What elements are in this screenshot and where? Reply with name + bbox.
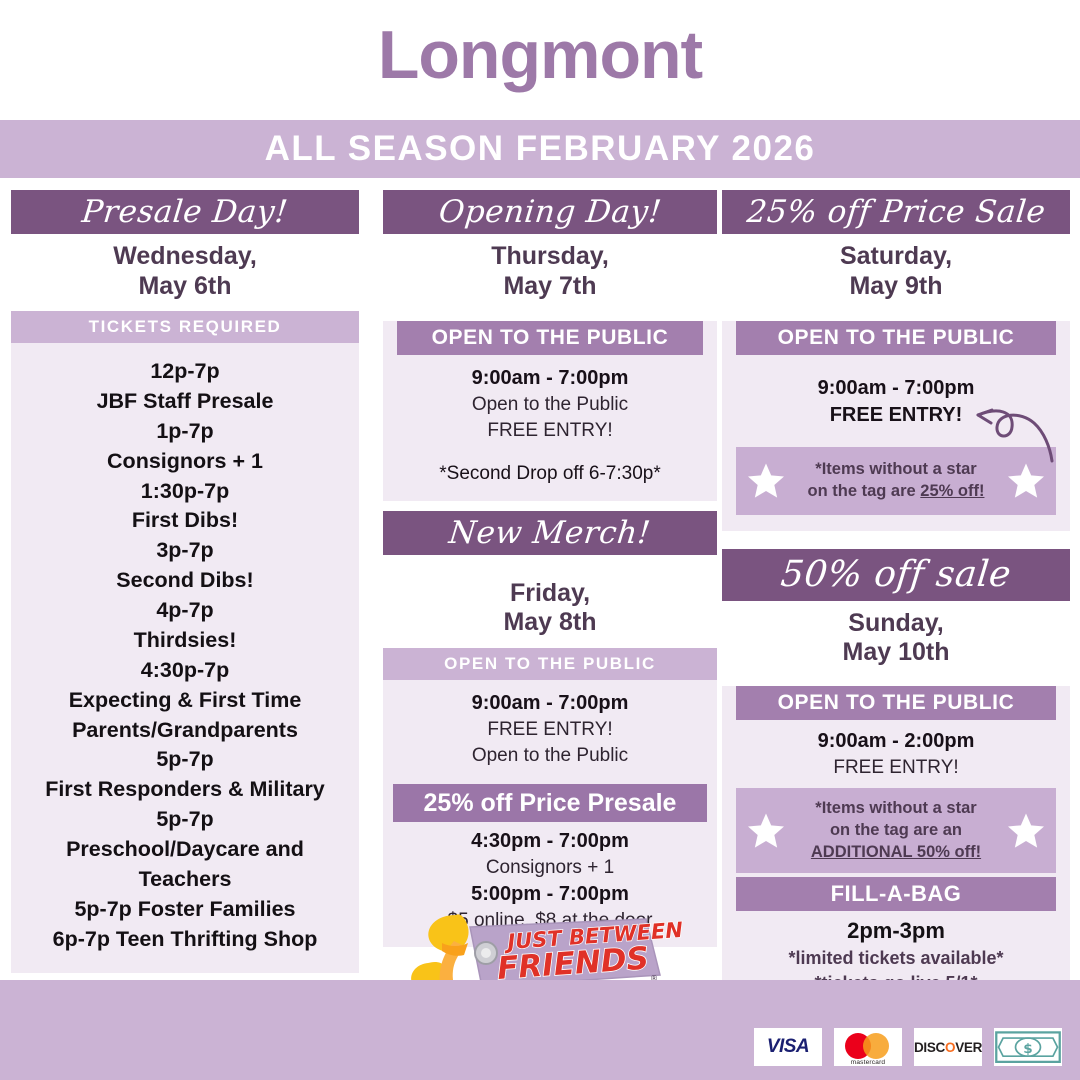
opening-day-date: Thursday, May 7th [383,234,717,311]
saturday-hours: 9:00am - 7:00pm [730,375,1062,402]
saturday-star-note-line2-pre: on the tag are [808,482,921,500]
list-item: First Dibs! [17,506,353,536]
friday-presale-time-1: 4:30pm - 7:00pm [391,828,709,855]
saturday-star-note-line1: *Items without a star [815,460,976,478]
tickets-required-bar: TICKETS REQUIRED [11,311,359,343]
open-to-public-bar-thursday: OPEN TO THE PUBLIC [397,321,703,355]
thursday-free-entry: FREE ENTRY! [391,418,709,444]
friday-presale-time-2: 5:00pm - 7:00pm [391,881,709,908]
list-item: Consignors + 1 [17,447,353,477]
presale-day-banner-label: Presale Day! [80,194,290,230]
fill-a-bag-bar: FILL-A-BAG [736,877,1056,911]
friday-public-line: Open to the Public [391,743,709,769]
list-item: 12p-7p [17,357,353,387]
list-item: 4:30p-7p [17,656,353,686]
open-to-public-label: OPEN TO THE PUBLIC [778,326,1015,350]
friday-free-entry: FREE ENTRY! [391,717,709,743]
opening-day-banner: Opening Day! [383,190,717,234]
friday-weekday: Friday, [383,579,717,609]
list-item: 1:30p-7p [17,477,353,507]
saturday-free-entry: FREE ENTRY! [730,402,1062,429]
friday-panel: OPEN TO THE PUBLIC 9:00am - 7:00pm FREE … [383,648,717,948]
season-banner-label: ALL SEASON FEBRUARY 2026 [265,129,816,169]
page-title: Longmont [0,0,1080,94]
saturday-date: Saturday, May 9th [722,234,1070,311]
discover-label: DISCOVER [914,1040,982,1055]
opening-day-date-num: May 7th [383,272,717,302]
friday-presale-who-1: Consignors + 1 [391,855,709,881]
open-to-public-bar-friday: OPEN TO THE PUBLIC [383,648,717,680]
presale-ticket-list: 12p-7p JBF Staff Presale 1p-7p Consignor… [11,343,359,963]
star-icon [746,811,786,851]
sunday-star-note-text: *Items without a star on the tag are an … [811,798,981,863]
new-merch-banner: New Merch! [383,511,717,555]
sunday-star-note: *Items without a star on the tag are an … [736,788,1056,873]
list-item: 5p-7p [17,805,353,835]
thursday-public-line: Open to the Public [391,392,709,418]
star-icon [1006,811,1046,851]
visa-icon: VISA [754,1028,822,1066]
fifty-off-banner: 50% off sale [722,549,1070,601]
list-item: 5p-7p [17,745,353,775]
season-banner: ALL SEASON FEBRUARY 2026 [0,120,1080,178]
cash-graphic: $ [994,1029,1062,1065]
saturday-star-note-text: *Items without a star on the tag are 25%… [808,459,985,503]
friday-times: 9:00am - 7:00pm FREE ENTRY! Open to the … [383,680,717,772]
sunday-free-entry: FREE ENTRY! [730,755,1062,781]
saturday-star-note-emphasis: 25% off! [920,482,984,500]
mastercard-orange-circle [863,1033,889,1059]
opening-day-weekday: Thursday, [383,242,717,272]
thursday-dropoff-note: *Second Drop off 6-7:30p* [391,443,709,487]
price-presale-bar: 25% off Price Presale [393,784,707,822]
thursday-times: 9:00am - 7:00pm Open to the Public FREE … [383,355,717,491]
friday-date-num: May 8th [383,608,717,638]
visa-label: VISA [767,1036,809,1058]
list-item: Teachers [17,865,353,895]
open-to-public-label: OPEN TO THE PUBLIC [444,654,656,674]
cash-icon: $ [994,1028,1062,1066]
sunday-date: Sunday, May 10th [722,601,1070,678]
price-sale-banner: 25% off Price Sale [722,190,1070,234]
presale-day-panel: TICKETS REQUIRED 12p-7p JBF Staff Presal… [11,311,359,973]
sunday-panel: OPEN TO THE PUBLIC 9:00am - 2:00pm FREE … [722,686,1070,1014]
price-sale-banner-label: 25% off Price Sale [745,194,1047,230]
fill-a-bag-label: FILL-A-BAG [831,881,962,907]
presale-day-date-num: May 6th [11,272,359,302]
sunday-date-num: May 10th [722,638,1070,668]
sunday-star-note-line1: *Items without a star [815,799,976,817]
fill-a-bag-note-1: *limited tickets available* [728,946,1064,971]
list-item: Thirdsies! [17,626,353,656]
fifty-off-banner-label: 50% off sale [779,554,1013,595]
sunday-weekday: Sunday, [722,609,1070,639]
list-item: Expecting & First Time [17,686,353,716]
payment-methods: VISA mastercard DISCOVER $ [754,1028,1062,1066]
tickets-required-label: TICKETS REQUIRED [89,317,282,337]
list-item: 5p-7p Foster Families [17,895,353,925]
saturday-date-num: May 9th [722,272,1070,302]
price-presale-label: 25% off Price Presale [424,789,677,818]
saturday-times: 9:00am - 7:00pm FREE ENTRY! [722,355,1070,433]
sunday-star-note-line2: on the tag are an [830,821,962,839]
list-item: JBF Staff Presale [17,387,353,417]
presale-day-weekday: Wednesday, [11,242,359,272]
thursday-hours: 9:00am - 7:00pm [391,365,709,392]
presale-day-banner: Presale Day! [11,190,359,234]
opening-day-banner-label: Opening Day! [437,194,663,230]
column-opening-day: Opening Day! Thursday, May 7th OPEN TO T… [383,190,717,947]
list-item: First Responders & Military [17,775,353,805]
mastercard-label: mastercard [843,1059,893,1066]
mastercard-graphic: mastercard [843,1031,893,1063]
open-to-public-label: OPEN TO THE PUBLIC [778,691,1015,715]
column-presale-day: Presale Day! Wednesday, May 6th TICKETS … [11,190,359,973]
column-price-sale: 25% off Price Sale Saturday, May 9th OPE… [722,190,1070,1014]
list-item: 4p-7p [17,596,353,626]
list-item: 1p-7p [17,417,353,447]
sunday-star-note-emphasis: ADDITIONAL 50% off! [811,843,981,861]
saturday-weekday: Saturday, [722,242,1070,272]
friday-date: Friday, May 8th [383,555,717,648]
saturday-star-note: *Items without a star on the tag are 25%… [736,447,1056,515]
opening-day-panel: OPEN TO THE PUBLIC 9:00am - 7:00pm Open … [383,321,717,501]
open-to-public-bar-sunday: OPEN TO THE PUBLIC [736,686,1056,720]
fill-a-bag-time: 2pm-3pm [728,917,1064,946]
open-to-public-bar-saturday: OPEN TO THE PUBLIC [736,321,1056,355]
list-item: Preschool/Daycare and [17,835,353,865]
new-merch-banner-label: New Merch! [447,515,652,551]
discover-icon: DISCOVER [914,1028,982,1066]
saturday-panel: OPEN TO THE PUBLIC 9:00am - 7:00pm FREE … [722,321,1070,531]
schedule-columns: Presale Day! Wednesday, May 6th TICKETS … [0,190,1080,980]
list-item: Parents/Grandparents [17,716,353,746]
sunday-hours: 9:00am - 2:00pm [730,728,1062,755]
open-to-public-label: OPEN TO THE PUBLIC [432,326,669,350]
mastercard-icon: mastercard [834,1028,902,1066]
cash-dollar-label: $ [1023,1041,1032,1057]
list-item: Second Dibs! [17,566,353,596]
star-icon [1006,461,1046,501]
sunday-times: 9:00am - 2:00pm FREE ENTRY! [722,720,1070,781]
list-item: 3p-7p [17,536,353,566]
list-item: 6p-7p Teen Thrifting Shop [17,925,353,955]
presale-day-date: Wednesday, May 6th [11,234,359,311]
star-icon [746,461,786,501]
friday-hours: 9:00am - 7:00pm [391,690,709,717]
